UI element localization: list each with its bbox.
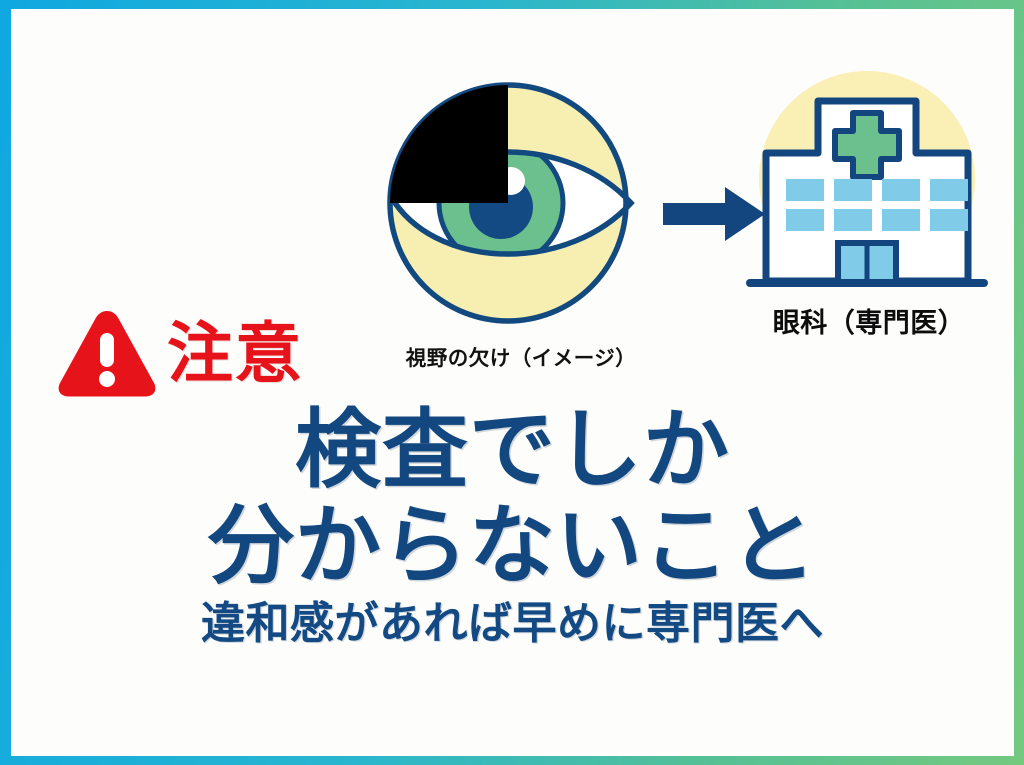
- subheadline: 違和感があれば早めに専門医へ: [11, 600, 1014, 648]
- hospital-building-icon: [736, 69, 992, 304]
- headline-line-2: 分からないこと: [11, 501, 1014, 591]
- eye-with-visual-field-defect-icon: [383, 77, 653, 329]
- hospital-caption: 眼科（専門医）: [724, 301, 1014, 340]
- poster-canvas: 視野の欠け（イメージ）: [11, 9, 1014, 756]
- warning-triangle-icon: [55, 307, 159, 399]
- eye-caption: 視野の欠け（イメージ）: [341, 341, 701, 371]
- alert-label: 注意: [167, 320, 303, 386]
- headline-block: 検査でしか 分からないこと 違和感があれば早めに専門医へ: [11, 405, 1014, 648]
- headline-line-1: 検査でしか: [11, 405, 1014, 495]
- poster-root: 視野の欠け（イメージ）: [0, 0, 1024, 765]
- alert-badge: 注意: [55, 307, 303, 399]
